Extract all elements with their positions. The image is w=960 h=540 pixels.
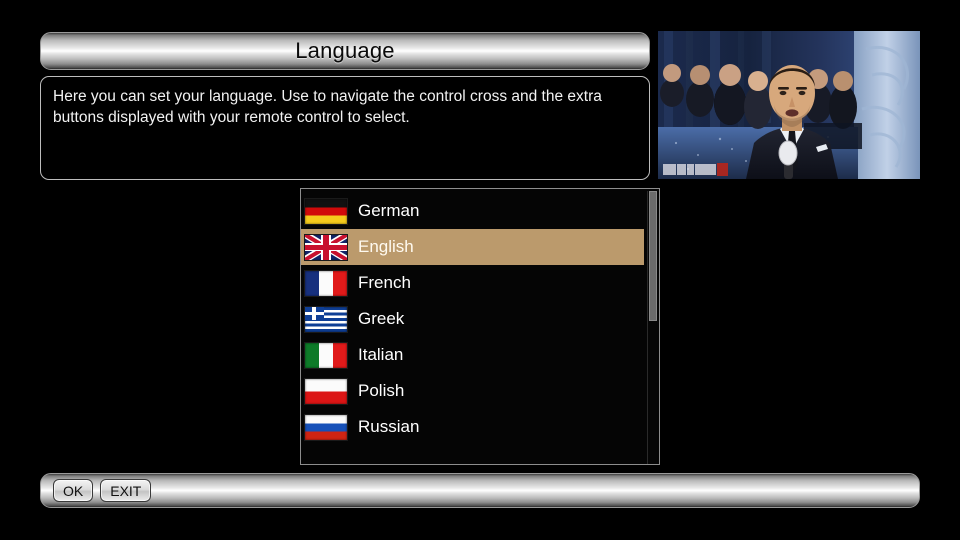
page-title: Language: [295, 38, 394, 64]
title-bar: Language: [40, 32, 650, 70]
language-list-item-english[interactable]: English: [301, 229, 644, 265]
language-list-item-label: Greek: [358, 309, 404, 329]
language-list-panel[interactable]: GermanEnglishFrenchGreekItalianPolishRus…: [300, 188, 660, 465]
language-list-item-label: French: [358, 273, 411, 293]
language-list-item-russian[interactable]: Russian: [301, 409, 644, 445]
russia-flag-icon: [304, 414, 348, 441]
description-text: Here you can set your language. Use to n…: [53, 87, 637, 129]
language-list-item-label: English: [358, 237, 414, 257]
united-kingdom-flag-icon: [304, 234, 348, 261]
language-list-item-label: Italian: [358, 345, 403, 365]
language-list-item-french[interactable]: French: [301, 265, 644, 301]
germany-flag-icon: [304, 198, 348, 225]
greece-flag-icon: [304, 306, 348, 333]
language-list-item-label: German: [358, 201, 419, 221]
exit-button[interactable]: EXIT: [100, 479, 151, 502]
italy-flag-icon: [304, 342, 348, 369]
news-channel-bug: [663, 163, 741, 176]
bottom-softkey-bar: OKEXIT: [40, 473, 920, 508]
tv-settings-screen: Language Here you can set your language.…: [0, 0, 960, 540]
language-list-item-italian[interactable]: Italian: [301, 337, 644, 373]
ok-button[interactable]: OK: [53, 479, 93, 502]
list-scrollbar-thumb[interactable]: [649, 191, 657, 321]
language-list-item-polish[interactable]: Polish: [301, 373, 644, 409]
video-preview-image: [658, 31, 920, 179]
language-list: GermanEnglishFrenchGreekItalianPolishRus…: [301, 193, 644, 445]
language-list-item-label: Russian: [358, 417, 419, 437]
france-flag-icon: [304, 270, 348, 297]
language-list-item-greek[interactable]: Greek: [301, 301, 644, 337]
description-panel: Here you can set your language. Use to n…: [40, 76, 650, 180]
poland-flag-icon: [304, 378, 348, 405]
list-scrollbar[interactable]: [647, 191, 657, 464]
language-list-item-label: Polish: [358, 381, 404, 401]
video-preview[interactable]: [658, 31, 920, 179]
language-list-item-german[interactable]: German: [301, 193, 644, 229]
